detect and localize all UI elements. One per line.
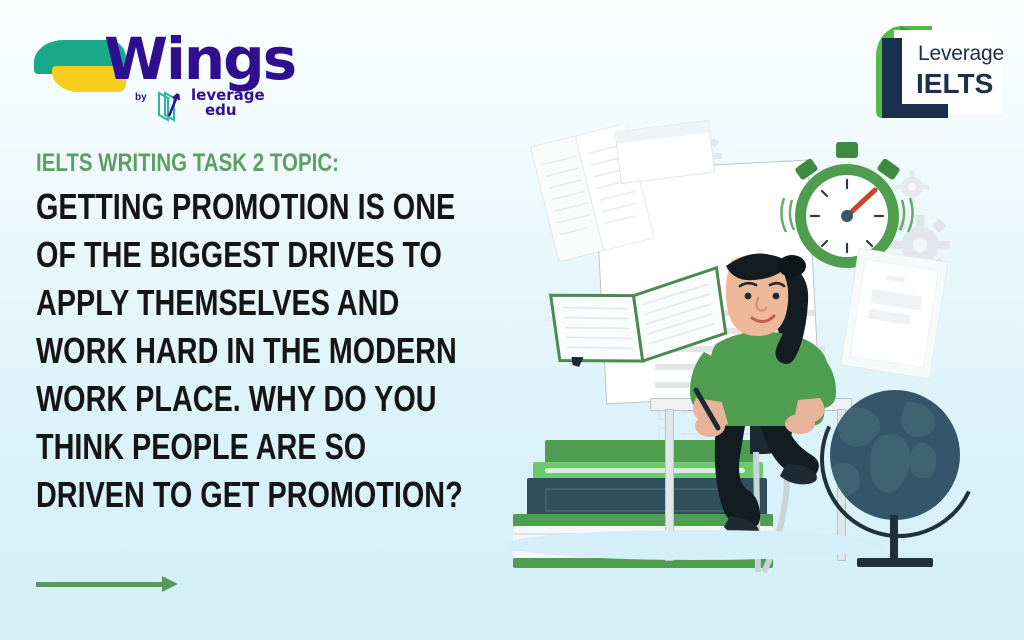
paper-sheet <box>610 118 720 188</box>
globe-continents <box>830 390 960 520</box>
page-kicker: IELTS WRITING TASK 2 TOPIC: <box>36 150 380 176</box>
arrow-line <box>36 582 168 587</box>
headline-line-2: OF THE BIGGEST DRIVES TO <box>36 237 372 273</box>
headline-block: IELTS WRITING TASK 2 TOPIC: GETTING PROM… <box>36 150 456 525</box>
globe-base <box>857 558 933 567</box>
wings-wordmark: Wings <box>104 30 295 88</box>
headline-line-1: GETTING PROMOTION IS ONE <box>36 189 372 225</box>
ielts-logo-line1: Leverage <box>918 42 1004 66</box>
ielts-logo-line2: IELTS <box>916 68 993 100</box>
student-studying-illustration <box>505 110 1010 600</box>
headline-line-5: WORK PLACE. WHY DO YOU <box>36 381 372 417</box>
headline-line-3: APPLY THEMSELVES AND <box>36 285 372 321</box>
headline-line-7: DRIVEN TO GET PROMOTION? <box>36 477 372 513</box>
leverage-edu-book-icon <box>156 89 190 123</box>
by-label: by <box>135 92 147 103</box>
globe-stem <box>890 515 898 560</box>
leverage-edu-wordmark: leverage edu <box>191 88 265 118</box>
leverage-edu-line2: edu <box>205 103 265 118</box>
floor-shadow <box>505 530 885 560</box>
right-arrow-accent <box>36 575 186 593</box>
poster-canvas: Wings by leverage edu Leverage IELTS IEL… <box>0 0 1024 640</box>
leverage-ielts-logo[interactable]: Leverage IELTS <box>870 24 1002 120</box>
headline-line-4: WORK HARD IN THE MODERN <box>36 333 372 369</box>
wings-brand-logo[interactable]: Wings by leverage edu <box>28 26 248 126</box>
arrow-head-icon <box>162 576 178 592</box>
headline-line-6: THINK PEOPLE ARE SO <box>36 429 372 465</box>
